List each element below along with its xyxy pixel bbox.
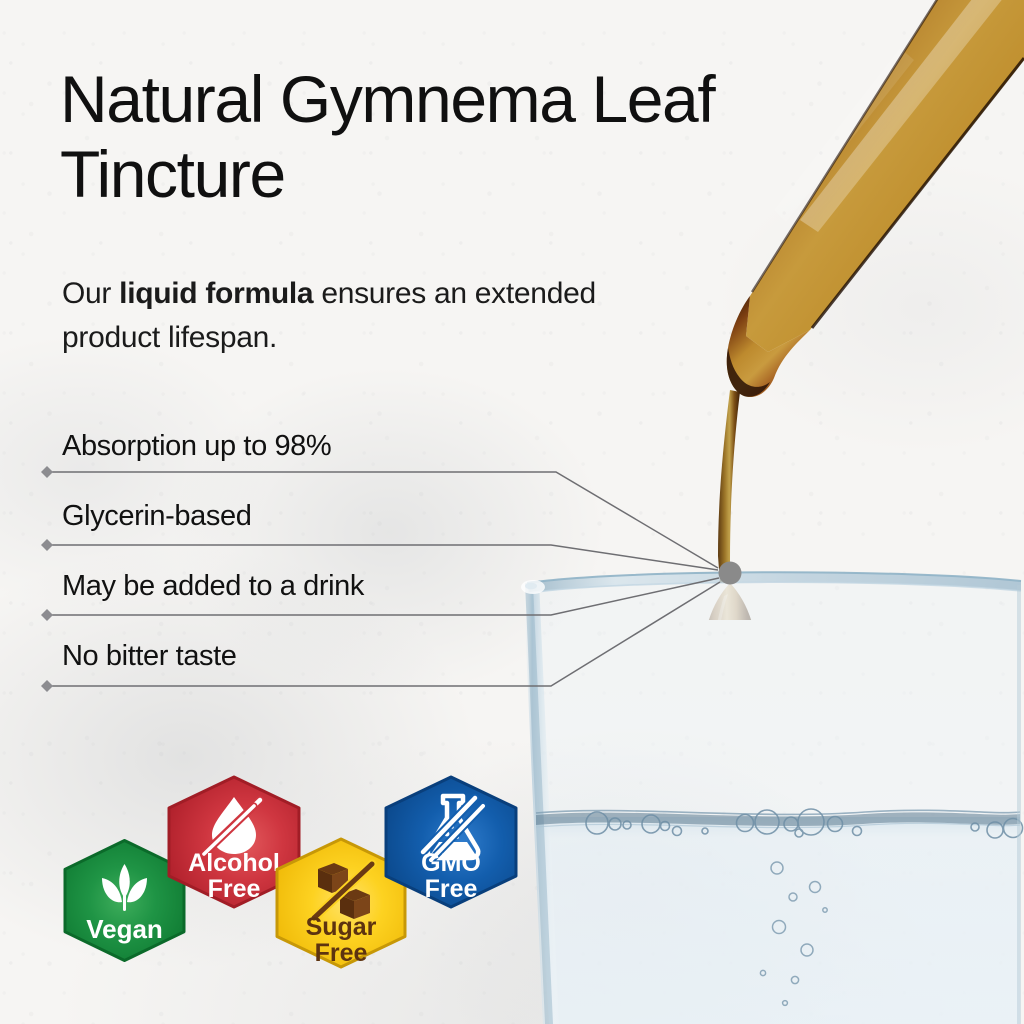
badge-gmo-free: GMO Free	[383, 774, 519, 910]
certification-badges: Vegan	[0, 0, 1024, 1024]
badge-gmo-free-hexagon	[383, 774, 519, 910]
infographic-canvas: Natural Gymnema Leaf Tincture Our liquid…	[0, 0, 1024, 1024]
